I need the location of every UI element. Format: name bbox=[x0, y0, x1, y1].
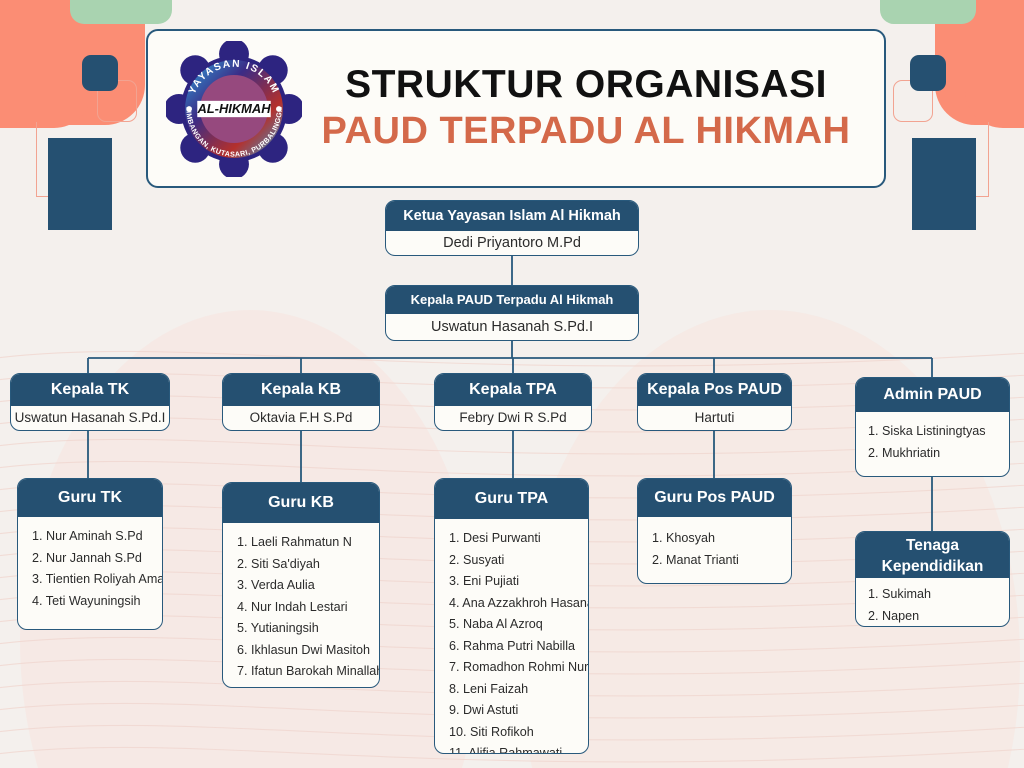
node-admin-paud[interactable]: Admin PAUD 1. Siska Listiningtyas2. Mukh… bbox=[855, 377, 1010, 477]
list-item: 1. Khosyah bbox=[652, 531, 779, 545]
node-title: Kepala PAUD Terpadu Al Hikmah bbox=[386, 286, 638, 314]
list-item: 1. Sukimah bbox=[868, 587, 999, 601]
title-line-primary: STRUKTUR ORGANISASI bbox=[304, 64, 868, 106]
list-item: 3. Tientien Roliyah Ama bbox=[32, 572, 150, 586]
list-item: 9. Dwi Astuti bbox=[449, 703, 576, 717]
list-item: 2. Napen bbox=[868, 609, 999, 623]
node-guru-pos-paud[interactable]: Guru Pos PAUD 1. Khosyah2. Manat Trianti bbox=[637, 478, 792, 584]
node-title: Kepala TK bbox=[11, 374, 169, 406]
node-title: Guru KB bbox=[223, 483, 379, 523]
node-member-list: 1. Khosyah2. Manat Trianti bbox=[638, 517, 791, 584]
list-item: 2. Nur Jannah S.Pd bbox=[32, 551, 150, 565]
list-item: 2. Mukhriatin bbox=[868, 446, 999, 460]
title-line-secondary: PAUD TERPADU AL HIKMAH bbox=[304, 110, 868, 153]
list-item: 2. Siti Sa'diyah bbox=[237, 557, 367, 571]
list-item: 4. Nur Indah Lestari bbox=[237, 600, 367, 614]
list-item: 5. Naba Al Azroq bbox=[449, 617, 576, 631]
list-item: 4. Ana Azzakhroh Hasanah bbox=[449, 596, 576, 610]
list-item: 1. Laeli Rahmatun N bbox=[237, 535, 367, 549]
list-item: 1. Nur Aminah S.Pd bbox=[32, 529, 150, 543]
list-item: 8. Leni Faizah bbox=[449, 682, 576, 696]
node-kepala-pos-paud[interactable]: Kepala Pos PAUD Hartuti bbox=[637, 373, 792, 431]
node-guru-tk[interactable]: Guru TK 1. Nur Aminah S.Pd2. Nur Jannah … bbox=[17, 478, 163, 630]
svg-text:AL-HIKMAH: AL-HIKMAH bbox=[196, 101, 271, 116]
list-item: 2. Susyati bbox=[449, 553, 576, 567]
list-item: 4. Teti Wayuningsih bbox=[32, 594, 150, 608]
page-title: STRUKTUR ORGANISASI PAUD TERPADU AL HIKM… bbox=[304, 64, 884, 153]
node-person: Hartuti bbox=[638, 406, 791, 430]
node-person: Oktavia F.H S.Pd bbox=[223, 406, 379, 430]
node-title: Kepala Pos PAUD bbox=[638, 374, 791, 406]
list-item: 5. Yutianingsih bbox=[237, 621, 367, 635]
decor-navy-square-left bbox=[82, 55, 118, 91]
decor-navy-square-right bbox=[910, 55, 946, 91]
list-item: 7. Ifatun Barokah Minallah bbox=[237, 664, 367, 678]
node-title: Guru TPA bbox=[435, 479, 588, 519]
node-tenaga-kependidikan[interactable]: Tenaga Kependidikan 1. Sukimah2. Napen bbox=[855, 531, 1010, 627]
decor-green-pill-left bbox=[70, 0, 172, 24]
list-item: 3. Verda Aulia bbox=[237, 578, 367, 592]
list-item: 8. Riana bbox=[237, 686, 367, 689]
decor-navy-rect-right bbox=[912, 138, 976, 230]
node-title: Kepala KB bbox=[223, 374, 379, 406]
node-kepala-kb[interactable]: Kepala KB Oktavia F.H S.Pd bbox=[222, 373, 380, 431]
node-title-line1: Tenaga bbox=[856, 535, 1009, 556]
node-title-line2: Kependidikan bbox=[856, 556, 1009, 577]
node-person: Uswatun Hasanah S.Pd.I bbox=[11, 406, 169, 430]
node-title: Admin PAUD bbox=[856, 378, 1009, 412]
list-item: 1. Desi Purwanti bbox=[449, 531, 576, 545]
node-guru-kb[interactable]: Guru KB 1. Laeli Rahmatun N2. Siti Sa'di… bbox=[222, 482, 380, 688]
node-person: Febry Dwi R S.Pd bbox=[435, 406, 591, 430]
decor-green-pill-right bbox=[880, 0, 976, 24]
decor-navy-rect-left bbox=[48, 138, 112, 230]
list-item: 2. Manat Trianti bbox=[652, 553, 779, 567]
node-person: Dedi Priyantoro M.Pd bbox=[386, 231, 638, 255]
node-kepala-tk[interactable]: Kepala TK Uswatun Hasanah S.Pd.I bbox=[10, 373, 170, 431]
node-title: Kepala TPA bbox=[435, 374, 591, 406]
node-member-list: 1. Siska Listiningtyas2. Mukhriatin bbox=[856, 412, 1009, 477]
node-title: Guru TK bbox=[18, 479, 162, 517]
list-item: 10. Siti Rofikoh bbox=[449, 725, 576, 739]
node-member-list: 1. Sukimah2. Napen bbox=[856, 578, 1009, 627]
list-item: 6. Ikhlasun Dwi Masitoh bbox=[237, 643, 367, 657]
list-item: 1. Siska Listiningtyas bbox=[868, 424, 999, 438]
node-person: Uswatun Hasanah S.Pd.I bbox=[386, 314, 638, 340]
list-item: 3. Eni Pujiati bbox=[449, 574, 576, 588]
node-member-list: 1. Desi Purwanti2. Susyati3. Eni Pujiati… bbox=[435, 519, 588, 754]
node-title: Ketua Yayasan Islam Al Hikmah bbox=[386, 201, 638, 231]
node-member-list: 1. Laeli Rahmatun N2. Siti Sa'diyah3. Ve… bbox=[223, 523, 379, 688]
node-guru-tpa[interactable]: Guru TPA 1. Desi Purwanti2. Susyati3. En… bbox=[434, 478, 589, 754]
decor-salmon-block-left-2 bbox=[0, 18, 92, 128]
decor-salmon-block-right-2 bbox=[965, 18, 1024, 128]
list-item: 6. Rahma Putri Nabilla bbox=[449, 639, 576, 653]
node-member-list: 1. Nur Aminah S.Pd2. Nur Jannah S.Pd3. T… bbox=[18, 517, 162, 625]
node-title: Tenaga Kependidikan bbox=[856, 532, 1009, 578]
node-title: Guru Pos PAUD bbox=[638, 479, 791, 517]
al-hikmah-logo-icon: AL-HIKMAH YAYASAN ISLAM LIMBANGAN, KUTAS… bbox=[164, 39, 304, 179]
list-item: 11. Alifia Rahmawati bbox=[449, 746, 576, 754]
node-ketua-yayasan[interactable]: Ketua Yayasan Islam Al Hikmah Dedi Priya… bbox=[385, 200, 639, 256]
title-banner: AL-HIKMAH YAYASAN ISLAM LIMBANGAN, KUTAS… bbox=[146, 29, 886, 188]
node-kepala-tpa[interactable]: Kepala TPA Febry Dwi R S.Pd bbox=[434, 373, 592, 431]
node-kepala-paud[interactable]: Kepala PAUD Terpadu Al Hikmah Uswatun Ha… bbox=[385, 285, 639, 341]
list-item: 7. Romadhon Rohmi Nur I bbox=[449, 660, 576, 674]
